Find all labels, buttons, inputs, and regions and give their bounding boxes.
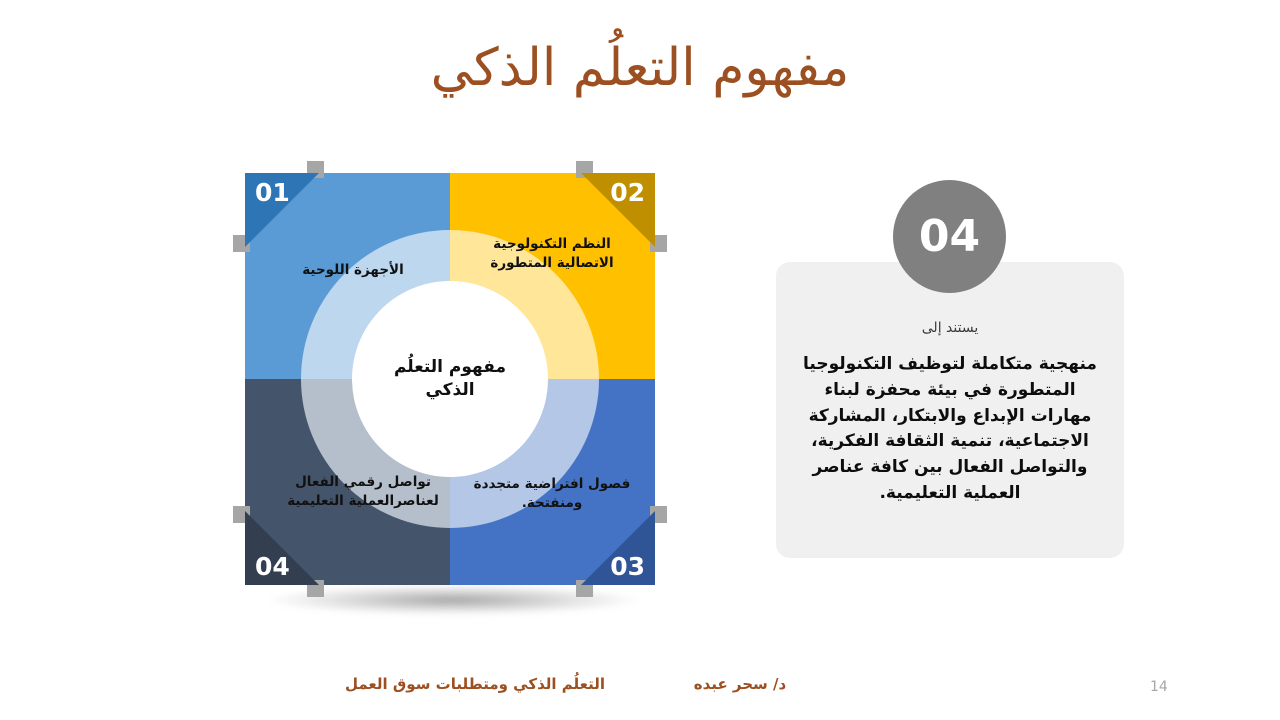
page-title: مفهوم التعلُم الذكي	[0, 38, 1280, 99]
quadrant-03-number: 03	[610, 552, 645, 581]
footer-title: التعلُم الذكي ومتطلبات سوق العمل	[355, 675, 605, 693]
quadrant-04-label: تواصل رقمي الفعال لعناصرالعملية التعليمي…	[273, 473, 453, 511]
quadrant-01-number: 01	[255, 178, 290, 207]
corner-ribbon-03: 03	[581, 511, 655, 585]
detail-panel-badge: 04	[893, 180, 1006, 293]
diagram-hub-label: مفهوم التعلُم الذكي	[370, 356, 530, 402]
corner-ribbon-02: 02	[581, 173, 655, 247]
detail-panel-heading: يستند إلى	[802, 320, 1098, 336]
quadrant-02-number: 02	[610, 178, 645, 207]
corner-ribbon-04: 04	[245, 511, 319, 585]
diagram-hub: مفهوم التعلُم الذكي	[352, 281, 548, 477]
detail-panel-body: منهجية متكاملة لتوظيف التكنولوجيا المتطو…	[802, 352, 1098, 507]
footer-author: د/ سحر عبده	[680, 675, 800, 693]
quadrant-04-number: 04	[255, 552, 290, 581]
detail-panel: يستند إلى منهجية متكاملة لتوظيف التكنولو…	[776, 262, 1124, 558]
quadrant-01-label: الأجهزة اللوحية	[263, 261, 443, 280]
cycle-diagram: مفهوم التعلُم الذكي الأجهزة اللوحية النظ…	[245, 173, 655, 585]
slide-canvas: مفهوم التعلُم الذكي مفهوم التعلُم الذكي …	[0, 0, 1280, 720]
quadrant-03-label: فصول افتراضية متجددة ومنفتحة.	[463, 475, 641, 513]
slide-number: 14	[1150, 679, 1190, 695]
corner-ribbon-01: 01	[245, 173, 319, 247]
